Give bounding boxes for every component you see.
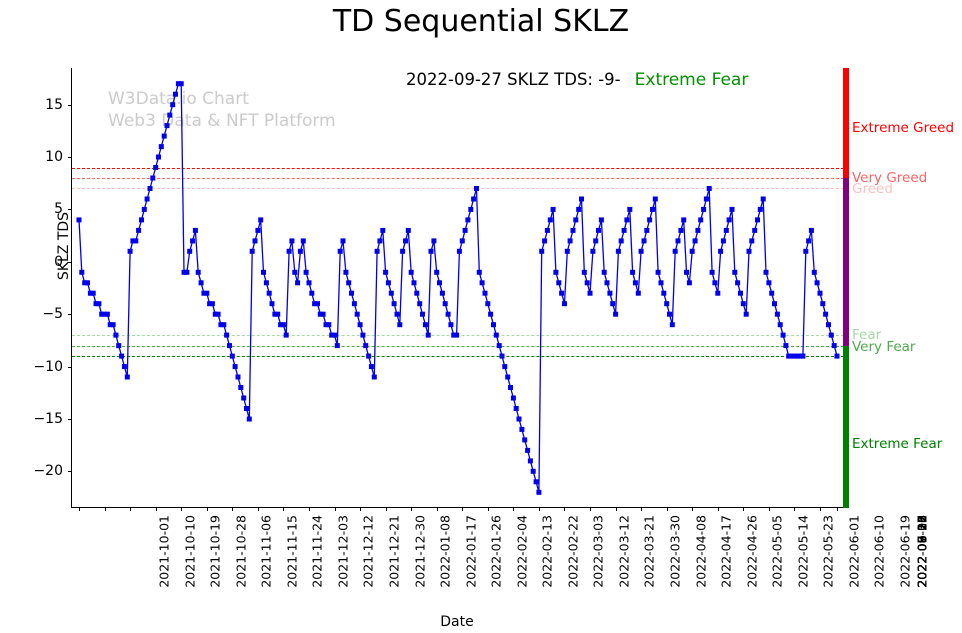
data-point-marker [250,249,255,254]
data-point-marker [747,249,752,254]
data-point-marker [91,291,96,296]
data-point-marker [647,217,652,222]
data-point-marker [528,458,533,463]
data-point-marker [358,322,363,327]
data-point-marker [642,238,647,243]
data-point-marker [372,375,377,380]
data-point-marker [190,238,195,243]
data-point-marker [636,291,641,296]
data-point-marker [301,238,306,243]
data-point-marker [167,113,172,118]
data-point-marker [255,228,260,233]
data-point-marker [241,396,246,401]
data-point-marker [511,396,516,401]
data-point-marker [457,249,462,254]
data-point-marker [576,207,581,212]
data-point-marker [474,186,479,191]
data-point-marker [735,280,740,285]
data-point-marker [133,238,138,243]
data-point-marker [593,238,598,243]
data-point-marker [721,238,726,243]
data-point-marker [749,238,754,243]
data-point-marker [471,197,476,202]
data-point-marker [173,92,178,97]
data-point-marker [752,228,757,233]
data-point-marker [644,228,649,233]
data-point-marker [633,280,638,285]
zone-label-extreme-greed: Extreme Greed [852,120,954,136]
data-point-marker [196,270,201,275]
x-tick-label: 2022-03-30 [668,515,683,588]
chart-title: TD Sequential SKLZ [0,4,962,39]
data-point-marker [429,249,434,254]
x-tick-label: 2022-02-04 [514,515,529,588]
data-point-marker [346,280,351,285]
data-point-marker [395,312,400,317]
data-point-marker [772,301,777,306]
data-point-marker [483,291,488,296]
data-point-marker [380,228,385,233]
plot-area: SKLZ TDS 151050−5−10−15−20 2021-10-01202… [71,68,843,508]
data-point-marker [238,385,243,390]
data-point-marker [105,312,110,317]
data-point-marker [139,217,144,222]
data-point-marker [715,291,720,296]
zone-bar-fear [843,346,849,508]
data-point-marker [386,280,391,285]
data-point-marker [684,270,689,275]
data-point-marker [392,301,397,306]
x-tick-label: 2022-05-23 [821,515,836,588]
data-point-marker [264,280,269,285]
data-point-marker [809,228,814,233]
x-tick-label: 2022-04-08 [693,515,708,588]
x-tick-label: 2022-03-21 [642,515,657,588]
data-point-marker [707,186,712,191]
data-point-marker [695,228,700,233]
data-point-marker [199,280,204,285]
data-point-marker [244,406,249,411]
data-point-marker [783,343,788,348]
data-point-marker [321,312,326,317]
data-point-marker [678,228,683,233]
data-point-marker [667,312,672,317]
data-point-marker [96,301,101,306]
data-point-marker [670,322,675,327]
data-point-marker [233,364,238,369]
data-point-marker [619,238,624,243]
y-tick-label: −20 [33,463,63,479]
data-point-marker [165,123,170,128]
data-point-marker [693,238,698,243]
data-point-marker [769,291,774,296]
x-tick-label: 2022-01-26 [489,515,504,588]
data-point-marker [136,228,141,233]
data-point-marker [610,301,615,306]
x-tick-label: 2022-04-26 [744,515,759,588]
threshold-label-very-fear: Very Fear [852,339,915,355]
data-point-marker [142,207,147,212]
data-point-marker [517,417,522,422]
data-point-marker [409,270,414,275]
data-point-marker [710,270,715,275]
x-tick-label: 2022-06-01 [847,515,862,588]
data-point-marker [676,238,681,243]
data-point-marker [545,228,550,233]
x-tick-label: 2021-11-24 [310,515,325,588]
plot-canvas [72,68,844,508]
data-point-marker [375,249,380,254]
data-point-marker [369,364,374,369]
data-point-marker [712,280,717,285]
data-point-marker [417,301,422,306]
data-point-marker [582,270,587,275]
x-tick-label: 2022-02-13 [540,515,555,588]
data-point-marker [326,322,331,327]
data-point-marker [298,249,303,254]
data-point-marker [295,280,300,285]
data-point-marker [111,322,116,327]
data-point-marker [224,333,229,338]
data-point-marker [766,280,771,285]
x-tick-label: 2021-10-10 [182,515,197,588]
data-point-marker [653,197,658,202]
data-point-marker [690,249,695,254]
data-point-marker [261,270,266,275]
data-point-marker [477,270,482,275]
data-point-marker [764,270,769,275]
data-point-marker [128,249,133,254]
data-point-marker [236,375,241,380]
x-tick-label: 2021-11-06 [259,515,274,588]
data-point-marker [536,490,541,495]
data-point-marker [781,333,786,338]
x-tick-label: 2022-03-03 [591,515,606,588]
data-point-marker [403,238,408,243]
x-tick-label: 2022-01-08 [438,515,453,588]
data-point-marker [116,343,121,348]
data-point-marker [673,249,678,254]
data-point-marker [352,301,357,306]
data-point-marker [630,270,635,275]
data-point-marker [119,354,124,359]
data-point-marker [309,291,314,296]
x-tick-label: 2022-06-10 [872,515,887,588]
data-point-marker [738,291,743,296]
data-point-marker [446,312,451,317]
data-point-marker [755,217,760,222]
data-point-marker [659,280,664,285]
data-point-marker [491,322,496,327]
data-point-marker [741,301,746,306]
data-point-marker [542,238,547,243]
x-tick-label: 2021-12-21 [387,515,402,588]
data-point-marker [548,217,553,222]
data-point-marker [434,270,439,275]
data-point-marker [505,375,510,380]
data-point-marker [122,364,127,369]
data-point-marker [624,217,629,222]
data-point-marker [497,343,502,348]
data-point-marker [661,291,666,296]
data-point-marker [616,249,621,254]
data-point-marker [153,165,158,170]
data-point-marker [431,238,436,243]
data-point-marker [258,217,263,222]
y-tick-label: −10 [33,359,63,375]
data-point-marker [267,291,272,296]
x-tick-label: 2022-06-19 [898,515,913,588]
data-point-marker [488,312,493,317]
data-point-marker [281,322,286,327]
data-point-marker [502,364,507,369]
data-point-marker [588,291,593,296]
data-point-marker [525,448,530,453]
data-point-marker [289,238,294,243]
data-point-marker [145,197,150,202]
data-point-marker [639,249,644,254]
data-point-marker [724,228,729,233]
data-point-marker [338,249,343,254]
data-point-marker [650,207,655,212]
data-point-marker [758,207,763,212]
series-polyline [79,84,837,493]
data-point-marker [210,301,215,306]
x-tick-label: 2021-12-30 [412,515,427,588]
data-point-marker [508,385,513,390]
data-point-marker [389,291,394,296]
data-point-marker [701,207,706,212]
data-point-marker [485,301,490,306]
data-point-marker [307,280,312,285]
zone-bar-neutral [843,178,849,346]
x-tick-label: 2021-10-19 [208,515,223,588]
data-point-marker [531,469,536,474]
data-point-marker [179,81,184,86]
data-point-marker [500,354,505,359]
data-point-marker [275,312,280,317]
data-point-marker [465,217,470,222]
data-point-marker [815,280,820,285]
x-tick-label: 2021-11-15 [284,515,299,588]
data-point-marker [253,238,258,243]
data-point-marker [605,280,610,285]
y-tick-label: −5 [42,306,63,322]
data-point-marker [463,228,468,233]
y-tick-label: 10 [45,149,63,165]
data-point-marker [292,270,297,275]
data-point-marker [494,333,499,338]
data-point-marker [571,228,576,233]
data-point-marker [443,301,448,306]
data-point-marker [468,207,473,212]
data-point-marker [823,312,828,317]
data-point-marker [687,280,692,285]
data-point-marker [664,301,669,306]
data-point-marker [85,280,90,285]
data-point-marker [332,333,337,338]
data-point-marker [832,343,837,348]
data-point-marker [590,249,595,254]
x-tick-label: 2022-01-17 [463,515,478,588]
data-point-marker [559,291,564,296]
data-point-marker [568,238,573,243]
data-point-marker [534,479,539,484]
data-point-marker [412,280,417,285]
data-point-marker [704,197,709,202]
data-point-marker [778,322,783,327]
data-point-marker [400,249,405,254]
data-point-marker [343,270,348,275]
data-point-marker [551,207,556,212]
threshold-label-greed: Greed [852,181,893,197]
data-point-marker [829,333,834,338]
data-point-marker [150,176,155,181]
x-tick-label: 2022-05-05 [770,515,785,588]
data-point-marker [355,312,360,317]
y-tick-label: 0 [54,254,63,270]
y-tick-label: 15 [45,97,63,113]
data-point-marker [406,228,411,233]
data-point-marker [613,312,618,317]
y-tick-label: 5 [54,201,63,217]
data-point-marker [193,228,198,233]
data-point-marker [556,280,561,285]
x-tick-label: 2022-03-12 [617,515,632,588]
data-point-marker [315,301,320,306]
data-point-marker [656,270,661,275]
data-point-marker [227,343,232,348]
data-point-marker [820,301,825,306]
data-point-marker [230,354,235,359]
data-point-marker [596,228,601,233]
data-point-marker [698,217,703,222]
data-point-marker [216,312,221,317]
data-point-marker [681,217,686,222]
zone-label-extreme-fear: Extreme Fear [852,436,942,452]
data-point-marker [420,312,425,317]
data-point-marker [514,406,519,411]
y-tick-label: −15 [33,411,63,427]
x-tick-label: 2022-05-14 [795,515,810,588]
data-point-marker [397,322,402,327]
x-tick-label: 2021-10-01 [157,515,172,588]
data-point-marker [565,249,570,254]
data-point-marker [113,333,118,338]
data-point-marker [803,249,808,254]
data-point-marker [284,333,289,338]
data-point-marker [170,102,175,107]
data-point-marker [744,312,749,317]
x-tick-label: 2022-02-22 [565,515,580,588]
chart-figure: TD Sequential SKLZ 2022-09-27 SKLZ TDS: … [0,0,962,633]
zone-bar-greed [843,68,849,178]
data-point-marker [77,217,82,222]
data-point-marker [426,333,431,338]
data-point-marker [159,144,164,149]
data-point-marker [341,238,346,243]
data-point-marker [800,354,805,359]
data-point-marker [349,291,354,296]
data-point-marker [818,291,823,296]
data-point-marker [247,417,252,422]
data-point-marker [727,217,732,222]
data-point-marker [826,322,831,327]
data-point-marker [835,354,840,359]
data-point-marker [812,270,817,275]
data-point-marker [79,270,84,275]
data-point-marker [519,427,524,432]
data-point-marker [602,270,607,275]
data-point-marker [539,249,544,254]
x-tick-label: 2022-04-17 [719,515,734,588]
data-point-marker [579,197,584,202]
data-point-marker [360,333,365,338]
data-point-marker [437,280,442,285]
data-point-marker [562,301,567,306]
data-point-marker [335,343,340,348]
data-point-marker [761,197,766,202]
data-point-marker [599,217,604,222]
data-point-marker [522,437,527,442]
data-point-marker [622,228,627,233]
data-point-marker [221,322,226,327]
data-point-marker [448,322,453,327]
data-point-marker [162,134,167,139]
x-tick-label: 2021-10-28 [233,515,248,588]
data-point-marker [775,312,780,317]
data-point-marker [732,270,737,275]
x-axis-label: Date [71,614,843,630]
data-point-marker [553,270,558,275]
data-point-marker [585,280,590,285]
series-line [72,68,844,508]
data-point-marker [366,354,371,359]
data-point-marker [806,238,811,243]
data-point-marker [607,291,612,296]
data-point-marker [480,280,485,285]
data-point-marker [423,322,428,327]
data-point-marker [627,207,632,212]
data-point-marker [304,270,309,275]
data-point-marker [730,207,735,212]
data-point-marker [414,291,419,296]
data-point-marker [184,270,189,275]
x-tick-label: 2021-12-03 [336,515,351,588]
x-tick-label: 2021-12-12 [361,515,376,588]
data-point-marker [187,249,192,254]
data-point-marker [156,155,161,160]
data-point-marker [383,270,388,275]
data-point-marker [270,301,275,306]
data-point-marker [440,291,445,296]
data-point-marker [125,375,130,380]
data-point-marker [287,249,292,254]
data-point-marker [460,238,465,243]
data-point-marker [148,186,153,191]
data-point-marker [718,249,723,254]
data-point-marker [573,217,578,222]
y-axis-label: SKLZ TDS [56,212,72,280]
x-tick-label: 2022-09-26 [915,515,930,588]
data-point-marker [204,291,209,296]
data-point-marker [377,238,382,243]
data-point-marker [363,343,368,348]
data-point-marker [454,333,459,338]
